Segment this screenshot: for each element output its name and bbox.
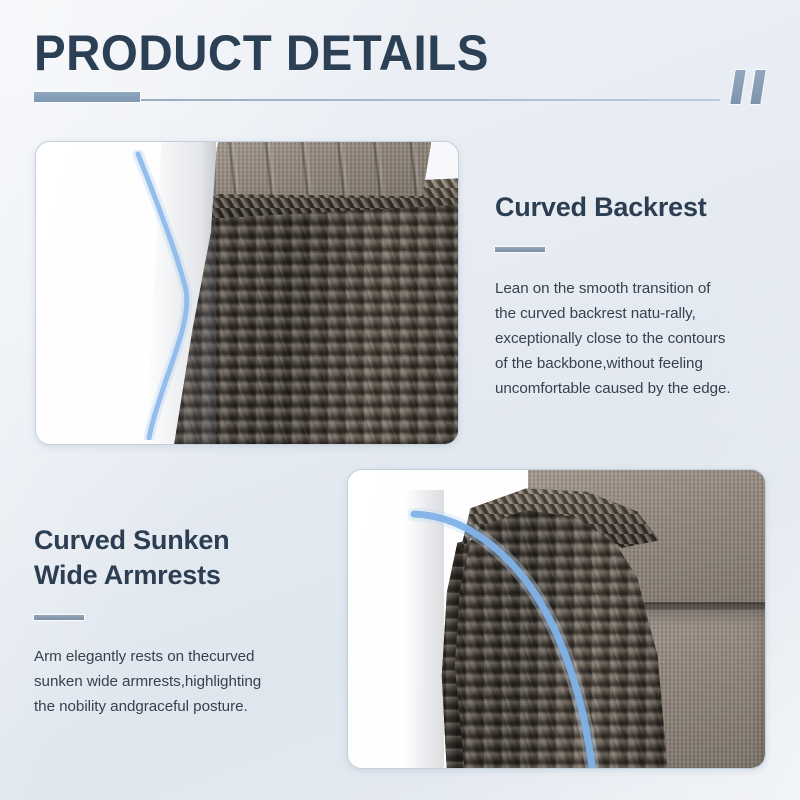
double-slash-icon (731, 70, 771, 106)
body-line: the curved backrest natu-rally, (495, 301, 777, 326)
feature-image-curved-backrest (35, 141, 459, 445)
product-photo-backrest (36, 142, 458, 444)
body-line: exceptionally close to the contours (495, 326, 777, 351)
body-line: uncomfortable caused by the edge. (495, 376, 777, 401)
feature-text-curved-backrest: Curved Backrest Lean on the smooth trans… (495, 190, 777, 401)
page-header: PRODUCT DETAILS (0, 0, 800, 130)
feature-divider-backrest (495, 247, 545, 252)
feature-divider-armrests (34, 615, 84, 620)
feature-title-line: Wide Armrests (34, 558, 314, 593)
armrest-contour-highlight-icon (408, 508, 638, 769)
slash-bar-second (750, 70, 765, 104)
feature-body-curved-backrest: Lean on the smooth transition of the cur… (495, 276, 777, 401)
page-title: PRODUCT DETAILS (34, 24, 489, 82)
body-line: of the backbone,without feeling (495, 351, 777, 376)
header-accent-bar (34, 92, 140, 102)
feature-title-line: Curved Sunken (34, 523, 314, 558)
feature-title-curved-backrest: Curved Backrest (495, 190, 777, 225)
feature-body-armrests: Arm elegantly rests on thecurved sunken … (34, 644, 314, 719)
product-photo-armrest (348, 470, 765, 768)
feature-text-curved-sunken-wide-armrests: Curved Sunken Wide Armrests Arm elegantl… (34, 523, 314, 719)
body-line: Arm elegantly rests on thecurved (34, 644, 314, 669)
body-line: Lean on the smooth transition of (495, 276, 777, 301)
feature-title-armrests: Curved Sunken Wide Armrests (34, 523, 314, 593)
backrest-contour-highlight-icon (130, 150, 250, 440)
slash-bar-first (730, 70, 745, 104)
body-line: the nobility andgraceful posture. (34, 694, 314, 719)
header-rule (34, 92, 720, 103)
body-line: sunken wide armrests,highlighting (34, 669, 314, 694)
feature-image-curved-sunken-wide-armrests (347, 469, 766, 769)
